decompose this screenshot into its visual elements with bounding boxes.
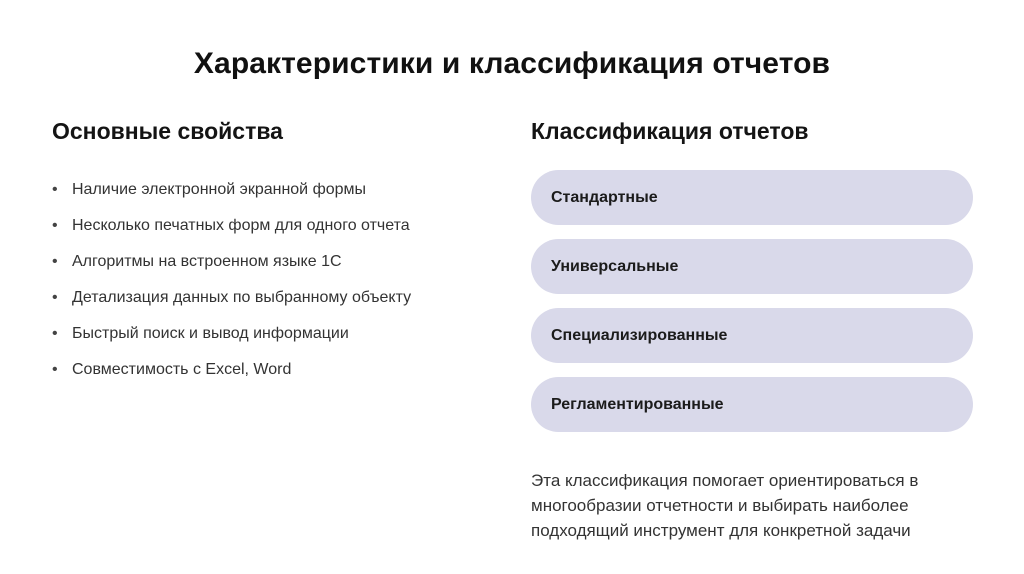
list-item-label: Наличие электронной экранной формы [72,181,366,198]
pill-label: Универсальные [551,258,678,276]
main-properties-column: Основные свойства • Наличие электронной … [52,118,522,144]
pill-label: Стандартные [551,189,658,207]
list-item: • Алгоритмы на встроенном языке 1С [52,252,532,272]
bullet-dot-icon: • [52,360,64,380]
classification-column: Классификация отчетов Стандартные Универ… [531,118,996,144]
bullet-dot-icon: • [52,180,64,200]
slide: Характеристики и классификация отчетов О… [0,0,1024,574]
bullet-dot-icon: • [52,216,64,236]
list-item: • Детализация данных по выбранному объек… [52,288,532,308]
classification-pill-list: Стандартные Универсальные Специализирова… [531,170,973,446]
main-properties-heading: Основные свойства [52,118,522,144]
list-item: • Наличие электронной экранной формы [52,180,532,200]
classification-note: Эта классификация помогает ориентировать… [531,468,931,543]
list-item: • Несколько печатных форм для одного отч… [52,216,532,236]
list-item-label: Несколько печатных форм для одного отчет… [72,217,410,234]
page-title: Характеристики и классификация отчетов [0,47,1024,81]
classification-pill-universal[interactable]: Универсальные [531,239,973,294]
bullet-dot-icon: • [52,324,64,344]
list-item-label: Быстрый поиск и вывод информации [72,325,349,342]
bullet-dot-icon: • [52,288,64,308]
pill-label: Регламентированные [551,396,724,414]
classification-heading: Классификация отчетов [531,118,996,144]
classification-pill-specialized[interactable]: Специализированные [531,308,973,363]
list-item-label: Совместимость с Excel, Word [72,361,291,378]
list-item: • Совместимость с Excel, Word [52,360,532,380]
classification-pill-regulated[interactable]: Регламентированные [531,377,973,432]
list-item-label: Алгоритмы на встроенном языке 1С [72,253,342,270]
main-properties-list: • Наличие электронной экранной формы • Н… [52,180,532,396]
pill-label: Специализированные [551,327,727,345]
list-item-label: Детализация данных по выбранному объекту [72,289,411,306]
list-item: • Быстрый поиск и вывод информации [52,324,532,344]
classification-pill-standard[interactable]: Стандартные [531,170,973,225]
bullet-dot-icon: • [52,252,64,272]
